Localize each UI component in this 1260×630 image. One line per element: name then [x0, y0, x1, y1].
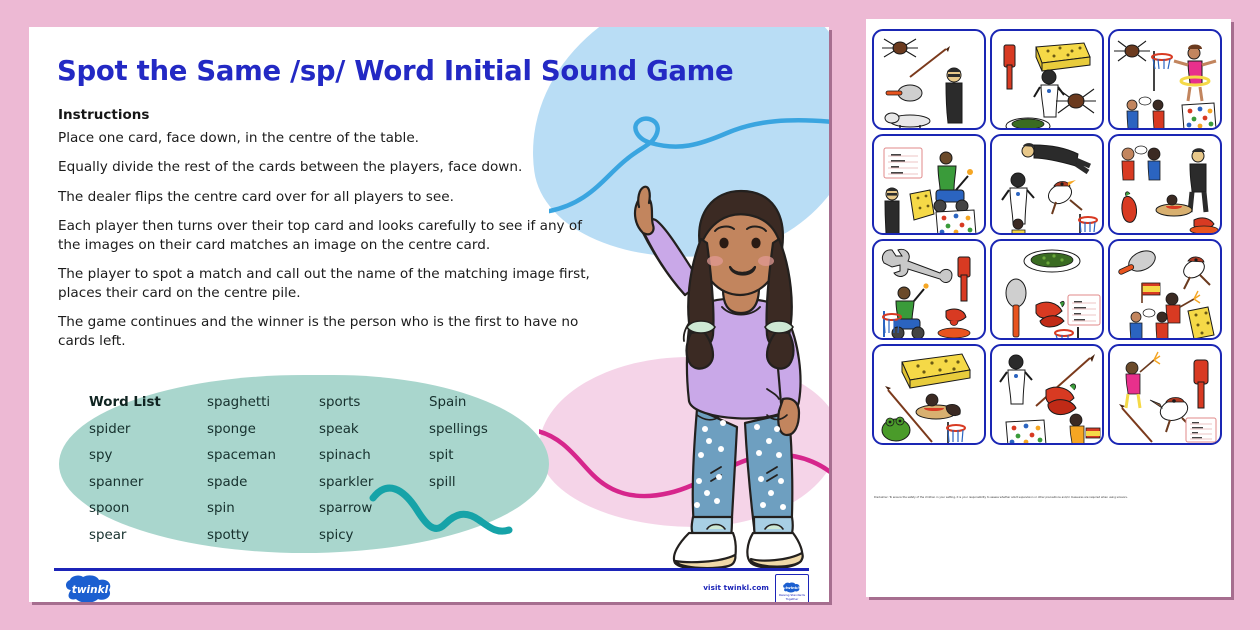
- spotty-icon: [1182, 103, 1216, 130]
- spain-flag-icon: [1142, 283, 1160, 303]
- spy-icon: [885, 188, 899, 234]
- spotty-icon: [936, 210, 976, 235]
- game-card[interactable]: [990, 344, 1104, 445]
- word-item: spicy: [319, 523, 429, 550]
- word-item: sparrow: [319, 496, 429, 523]
- word-item: spy: [89, 443, 207, 470]
- cards-sheet: Disclaimer: To ensure the safety of the …: [866, 19, 1231, 597]
- sparrow-icon: [1045, 180, 1082, 214]
- spaceman-icon: [1002, 173, 1034, 224]
- sponge-icon: [1036, 43, 1090, 71]
- word-item: spear: [89, 523, 207, 550]
- game-card[interactable]: [1108, 239, 1222, 340]
- word-item: spoon: [89, 496, 207, 523]
- instruction-step: Place one card, face down, in the centre…: [58, 129, 603, 147]
- spill-icon: [938, 309, 970, 338]
- game-card[interactable]: [1108, 344, 1222, 445]
- sports-net-icon: [1055, 327, 1078, 340]
- spider-icon: [1114, 41, 1150, 61]
- spaceman-scooter-icon: [934, 152, 973, 212]
- game-card[interactable]: [872, 239, 986, 340]
- spaceman-icon: [1000, 355, 1032, 404]
- twinkl-badge: twinkl Raising Standards Together: [775, 574, 809, 602]
- sponge-icon: [910, 190, 934, 220]
- spain-boat-icon: [1156, 195, 1192, 216]
- word-list: Word List spaghetti sports Spain spider …: [89, 390, 549, 550]
- spear-icon: [910, 46, 950, 77]
- word-item: Spain: [429, 390, 529, 417]
- instruction-step: The player to spot a match and call out …: [58, 265, 603, 302]
- spade-icon: [958, 257, 970, 301]
- word-item: sponge: [207, 417, 319, 444]
- game-card[interactable]: [872, 134, 986, 235]
- word-item: spill: [429, 470, 529, 497]
- game-card[interactable]: [990, 134, 1104, 235]
- word-item: spellings: [429, 417, 529, 444]
- spellings-icon: [884, 148, 922, 178]
- game-card[interactable]: [872, 29, 986, 130]
- footer-divider: [54, 568, 809, 571]
- sparkler-icon: [1126, 352, 1160, 408]
- spider-icon: [882, 39, 918, 57]
- spy-icon: [946, 68, 962, 123]
- word-item: speak: [319, 417, 429, 444]
- instruction-step: The dealer flips the centre card over fo…: [58, 188, 603, 206]
- spill-icon: [1190, 218, 1218, 234]
- speak-icon: [1127, 97, 1164, 129]
- sports-net-icon: [1079, 214, 1097, 235]
- spellings-icon: [1186, 418, 1216, 442]
- word-item: spider: [89, 417, 207, 444]
- spotty-icon: [1006, 420, 1046, 445]
- word-item: spin: [207, 496, 319, 523]
- spicy-icon: [1046, 384, 1076, 415]
- spicy-icon: [1036, 301, 1064, 327]
- spicy-icon: [1122, 192, 1137, 222]
- spy-icon: [1022, 143, 1090, 172]
- word-item: spaceman: [207, 443, 319, 470]
- spinach-icon: [1024, 250, 1080, 272]
- word-item-empty: [429, 523, 529, 550]
- word-item: spade: [207, 470, 319, 497]
- spear-icon: [1119, 404, 1152, 442]
- game-card[interactable]: [1108, 134, 1222, 235]
- speak-icon: [1122, 146, 1160, 180]
- word-item: spaghetti: [207, 390, 319, 417]
- word-item: spanner: [89, 470, 207, 497]
- game-card[interactable]: [872, 344, 986, 445]
- spoon-icon: [886, 85, 922, 101]
- sponge-icon: [1188, 307, 1214, 339]
- word-item: spit: [429, 443, 529, 470]
- card-grid: [872, 29, 1226, 445]
- word-item: spotty: [207, 523, 319, 550]
- disclaimer-text: Disclaimer: To ensure the safety of the …: [874, 496, 1174, 500]
- instruction-step: Equally divide the rest of the cards bet…: [58, 158, 603, 176]
- sports-hoop-icon: [1174, 45, 1216, 102]
- game-card[interactable]: [1108, 29, 1222, 130]
- spade-icon: [1194, 360, 1208, 408]
- sports-net-icon: [1152, 51, 1172, 91]
- badge-logo-icon: twinkl: [781, 582, 803, 593]
- game-card[interactable]: [990, 29, 1104, 130]
- dog-icon: [885, 113, 930, 130]
- spinach-frog-icon: [882, 417, 910, 441]
- spoon-icon: [1118, 247, 1159, 275]
- instruction-step: The game continues and the winner is the…: [58, 313, 603, 350]
- spanner-icon: [882, 249, 952, 282]
- girl-illustration: [627, 177, 829, 577]
- instructions-heading: Instructions: [58, 107, 149, 123]
- spaceman-scooter-icon: [892, 283, 929, 339]
- spaceman-icon: [1034, 70, 1064, 117]
- badge-tagline: Raising Standards Together: [776, 594, 808, 602]
- twinkl-logo: twinkl: [63, 574, 117, 602]
- sponge-icon: [902, 354, 970, 388]
- page-title: Spot the Same /sp/ Word Initial Sound Ga…: [57, 55, 747, 87]
- speak-icon: [1130, 309, 1168, 340]
- instructions-list: Place one card, face down, in the centre…: [58, 129, 603, 361]
- spellings-icon: [1068, 295, 1100, 325]
- instruction-sheet: Spot the Same /sp/ Word Initial Sound Ga…: [29, 27, 829, 602]
- word-item: sports: [319, 390, 429, 417]
- svg-text:twinkl: twinkl: [785, 585, 799, 590]
- word-item-empty: [429, 496, 529, 523]
- svg-text:twinkl: twinkl: [72, 584, 109, 596]
- spy-icon: [1190, 148, 1206, 212]
- spoon-icon: [1006, 279, 1026, 337]
- spain-boat-icon: [916, 394, 960, 419]
- sparrow-icon: [1180, 257, 1210, 289]
- word-list-heading: Word List: [89, 390, 207, 417]
- sports-net-icon: [947, 422, 965, 445]
- word-item: spinach: [319, 443, 429, 470]
- spinach-icon: [1006, 118, 1050, 130]
- spade-icon: [1004, 45, 1015, 89]
- game-card[interactable]: [990, 239, 1104, 340]
- visit-link[interactable]: visit twinkl.com: [703, 583, 769, 592]
- word-item: sparkler: [319, 470, 429, 497]
- instruction-step: Each player then turns over their top ca…: [58, 217, 603, 254]
- spain-flag-icon: [1070, 414, 1100, 444]
